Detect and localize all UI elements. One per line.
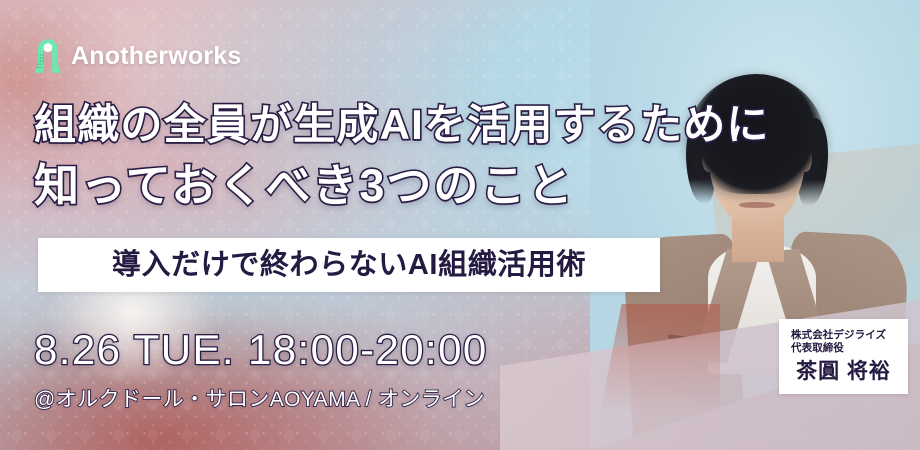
event-date-time: 8.26 TUE. 18:00-20:00 [34,327,488,373]
speaker-name: 茶圓 将裕 [796,359,891,384]
event-venue: @オルクドール・サロンAOYAMA / オンライン [34,388,485,411]
headline-line-1: 組織の全員が生成AIを活用するために [34,96,684,153]
portrait-mouth [739,202,775,208]
subtitle-bar: 導入だけで終わらないAI組織活用術 [38,238,660,292]
subtitle-text: 導入だけで終わらないAI組織活用術 [112,251,586,280]
speaker-company: 株式会社デジライズ [791,329,886,343]
event-banner: Anotherworks 組織の全員が生成AIを活用するために 知っておくべき3… [0,0,920,450]
headline: 組織の全員が生成AIを活用するために 知っておくべき3つのこと [34,96,684,216]
brand-logo[interactable]: Anotherworks [34,38,241,74]
brand-name: Anotherworks [71,44,241,69]
speaker-card: 株式会社デジライズ 代表取締役 茶圓 将裕 [779,319,908,394]
speaker-role: 代表取締役 [791,342,844,356]
headline-line-2: 知っておくべき3つのこと [34,155,684,216]
anotherworks-a-mark-icon [34,38,62,74]
